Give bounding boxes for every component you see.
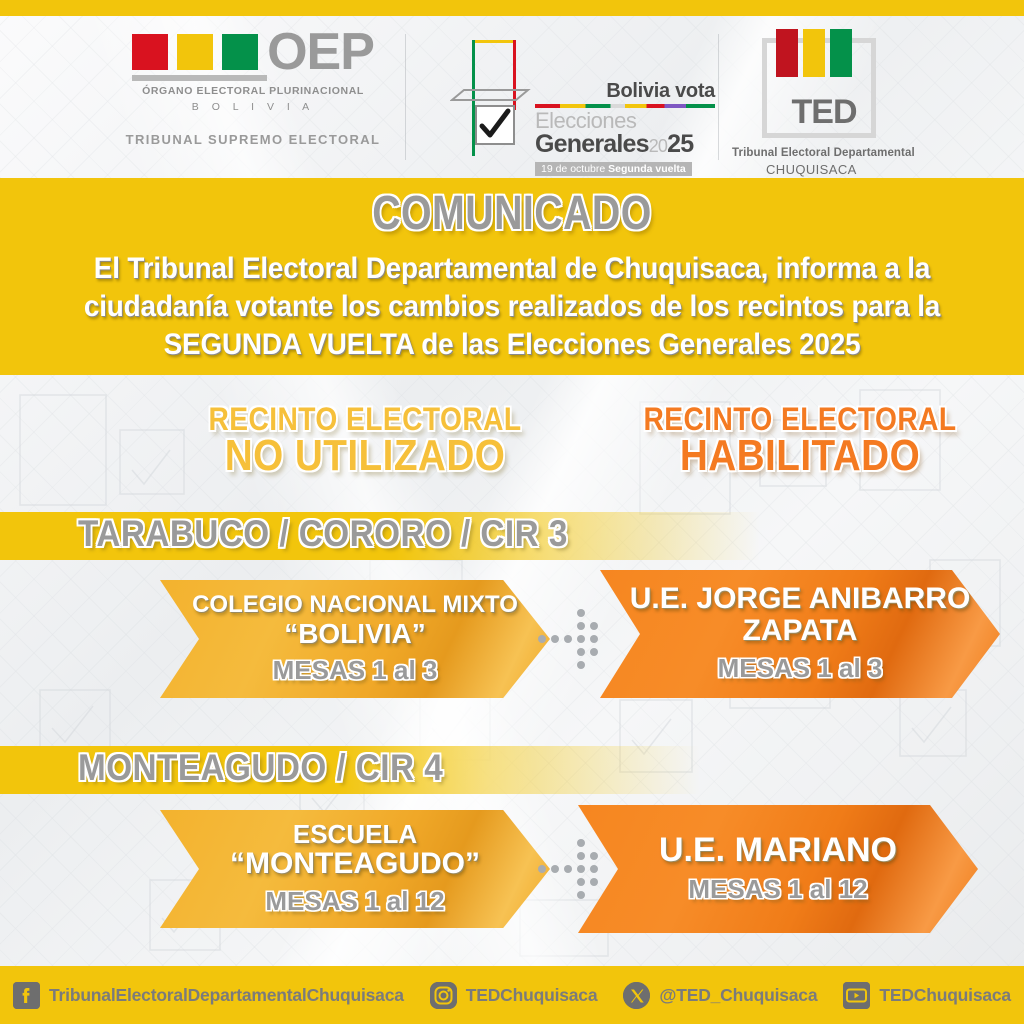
instagram-handle[interactable]: TEDChuquisaca	[466, 985, 598, 1006]
column-heading-not-used: RECINTO ELECTORAL NO UTILIZADO	[176, 404, 554, 477]
header-logos: OEP ÓRGANO ELECTORAL PLURINACIONAL B O L…	[0, 16, 1024, 178]
social-instagram[interactable]: TEDChuquisaca	[430, 982, 598, 1009]
youtube-handle[interactable]: TEDChuquisaca	[879, 985, 1011, 1006]
bolivia-vota-tagline: Bolivia vota	[535, 80, 715, 103]
ted-flag-bars	[776, 29, 852, 77]
banner-body-text: El Tribunal Electoral Departamental de C…	[36, 250, 988, 364]
ted-flag-yellow	[803, 29, 825, 77]
social-youtube[interactable]: TEDChuquisaca	[843, 982, 1011, 1009]
section-2-enabled-name-line1: U.E. MARIANO	[659, 833, 897, 867]
oep-flag-yellow	[177, 34, 213, 70]
ted-acronym: TED	[767, 95, 881, 129]
oep-institution: TRIBUNAL SUPREMO ELECTORAL	[108, 132, 398, 147]
header-divider-left	[405, 34, 406, 160]
oep-flag-green	[222, 34, 258, 70]
section-band-1: TARABUCO / CORORO / CIR 3	[0, 512, 760, 560]
election-round: Segunda vuelta	[608, 163, 686, 175]
instagram-icon[interactable]	[430, 982, 457, 1009]
section-2-transition-arrow	[538, 840, 604, 898]
ted-department: CHUQUISACA	[766, 162, 1012, 177]
facebook-icon[interactable]	[13, 982, 40, 1009]
youtube-icon[interactable]	[843, 982, 870, 1009]
generales-label: Generales2025	[535, 132, 715, 159]
social-facebook[interactable]: TribunalElectoralDepartamentalChuquisaca	[13, 982, 404, 1009]
election-date-badge: 19 de octubre Segunda vuelta	[535, 162, 692, 176]
ted-logo: TED Tribunal Electoral Departamental CHU…	[732, 38, 1012, 177]
oep-flag-red	[132, 34, 168, 70]
oep-country: B O L I V I A	[108, 101, 398, 113]
section-band-2: MONTEAGUDO / CIR 4	[0, 746, 700, 794]
elecciones-label: Elecciones	[535, 110, 715, 132]
section-1-transition-arrow	[538, 610, 604, 668]
year-suffix: 25	[667, 130, 693, 158]
section-1-not-used-name-line2: “BOLIVIA”	[192, 620, 518, 648]
ted-flag-red	[776, 29, 798, 77]
section-1-not-used-mesas: MESAS 1 al 3	[273, 655, 438, 686]
section-band-1-label: TARABUCO / CORORO / CIR 3	[78, 510, 568, 558]
comunicado-banner: COMUNICADO El Tribunal Electoral Departa…	[0, 178, 1024, 375]
section-1-not-used-name: COLEGIO NACIONAL MIXTO “BOLIVIA”	[192, 593, 518, 648]
section-1-recinto-no-utilizado: COLEGIO NACIONAL MIXTO “BOLIVIA” MESAS 1…	[160, 580, 550, 698]
column-heading-enabled: RECINTO ELECTORAL HABILITADO	[615, 404, 985, 477]
x-twitter-handle[interactable]: @TED_Chuquisaca	[659, 985, 817, 1006]
section-2-recinto-no-utilizado: ESCUELA “MONTEAGUDO” MESAS 1 al 12	[160, 810, 550, 928]
year-prefix: 20	[649, 136, 667, 156]
section-1-enabled-name: U.E. JORGE ANIBARRO ZAPATA	[630, 584, 971, 646]
page-title: COMUNICADO	[92, 186, 932, 241]
section-1-not-used-name-line1: COLEGIO NACIONAL MIXTO	[192, 593, 518, 617]
footer-social-bar: TribunalElectoralDepartamentalChuquisaca…	[0, 966, 1024, 1024]
bolivia-vota-text: Bolivia vota Elecciones Generales2025 19…	[535, 80, 715, 177]
section-2-not-used-name-line1: ESCUELA	[230, 821, 480, 847]
facebook-handle[interactable]: TribunalElectoralDepartamentalChuquisaca	[49, 985, 404, 1006]
section-2-not-used-mesas: MESAS 1 al 12	[265, 886, 444, 917]
column-heading-enabled-line2: HABILITADO	[615, 435, 985, 477]
banner-line-2: ciudadanía votante los cambios realizado…	[36, 288, 988, 326]
oep-logo-row: OEP	[108, 34, 398, 85]
header-divider-right	[718, 34, 719, 160]
section-1-recinto-habilitado: U.E. JORGE ANIBARRO ZAPATA MESAS 1 al 3	[600, 570, 1000, 698]
election-date: 19 de octubre	[541, 163, 605, 175]
section-2-enabled-mesas: MESAS 1 al 12	[688, 874, 867, 905]
generales-word: Generales	[535, 130, 649, 158]
comunicado-poster: OEP ÓRGANO ELECTORAL PLURINACIONAL B O L…	[0, 0, 1024, 1024]
section-2-not-used-name-line2: “MONTEAGUDO”	[230, 849, 480, 879]
oep-acronym: OEP	[267, 34, 374, 70]
section-2-enabled-name: U.E. MARIANO	[659, 833, 897, 867]
banner-line-1: El Tribunal Electoral Departamental de C…	[36, 250, 988, 288]
x-twitter-icon[interactable]	[623, 982, 650, 1009]
bolivia-vota-logo: Bolivia vota Elecciones Generales2025 19…	[440, 36, 710, 176]
oep-logo: OEP ÓRGANO ELECTORAL PLURINACIONAL B O L…	[108, 34, 398, 147]
section-1-enabled-name-line2: ZAPATA	[630, 616, 971, 646]
top-accent-strip	[0, 0, 1024, 16]
ted-subtitle: Tribunal Electoral Departamental	[732, 147, 1012, 159]
section-2-recinto-habilitado: U.E. MARIANO MESAS 1 al 12	[578, 805, 978, 933]
oep-underline-bar	[132, 75, 267, 81]
section-1-enabled-name-line1: U.E. JORGE ANIBARRO	[630, 584, 971, 614]
section-2-not-used-name: ESCUELA “MONTEAGUDO”	[230, 821, 480, 879]
banner-line-3: SEGUNDA VUELTA de las Elecciones General…	[36, 326, 988, 364]
oep-subtitle: ÓRGANO ELECTORAL PLURINACIONAL	[108, 85, 398, 97]
ted-flag-green	[830, 29, 852, 77]
section-1-enabled-mesas: MESAS 1 al 3	[718, 653, 883, 684]
ballot-urn-icon	[450, 38, 545, 158]
ted-logo-frame: TED	[762, 38, 876, 138]
column-heading-not-used-line2: NO UTILIZADO	[176, 435, 554, 477]
section-band-2-label: MONTEAGUDO / CIR 4	[78, 744, 443, 792]
social-x-twitter[interactable]: @TED_Chuquisaca	[623, 982, 817, 1009]
